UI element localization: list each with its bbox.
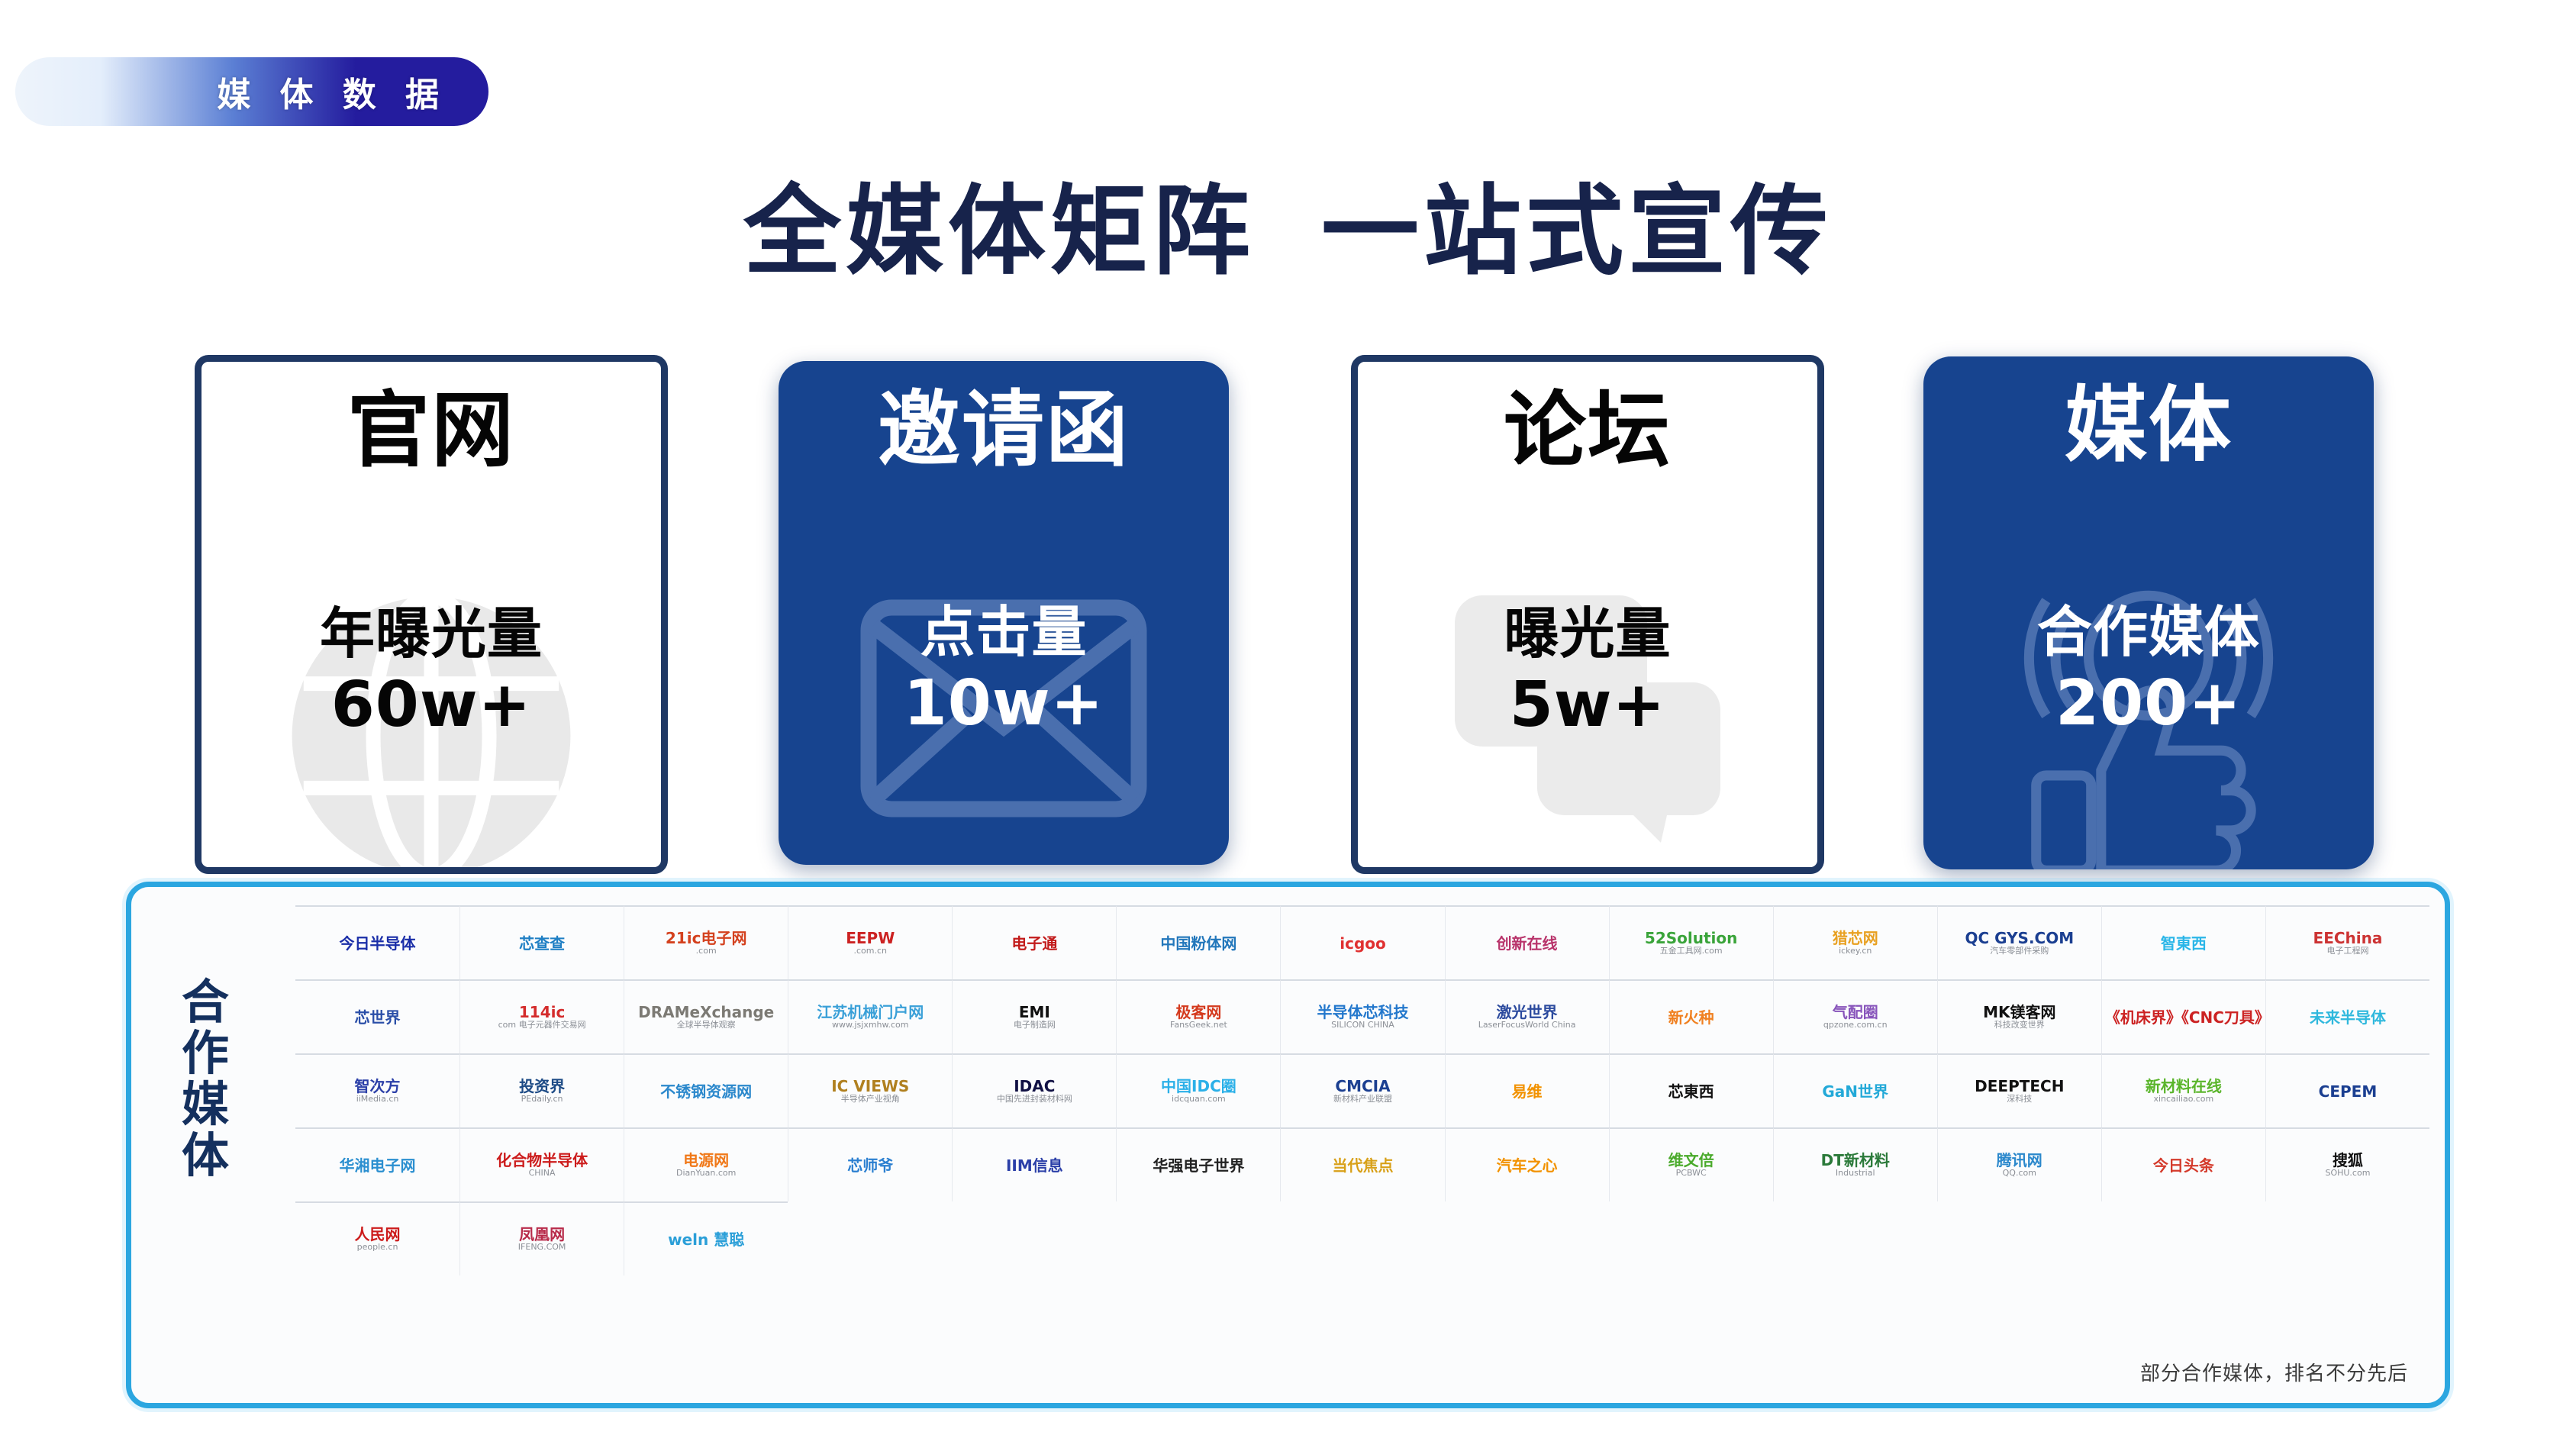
logo-cell[interactable]: IIM信息 <box>952 1127 1116 1201</box>
logo-cell[interactable]: 芯师爷 <box>788 1127 952 1201</box>
logo-name: DT新材料Industrial <box>1821 1152 1890 1178</box>
logo-subtitle: FansGeek.net <box>1170 1021 1227 1030</box>
logo-cell[interactable]: 不锈钢资源网 <box>624 1053 788 1127</box>
stat-card-media[interactable]: 媒体 合作媒体 200+ <box>1923 356 2374 869</box>
logo-cell[interactable]: 芯世界 <box>295 979 459 1053</box>
logo-subtitle: 深科技 <box>1975 1095 2064 1104</box>
logo-subtitle: .com <box>666 947 747 956</box>
logo-cell[interactable]: 当代焦点 <box>1280 1127 1444 1201</box>
logo-cell[interactable]: 半导体芯科技SILICON CHINA <box>1280 979 1444 1053</box>
logo-cell[interactable]: DRAMeXchange全球半导体观察 <box>624 979 788 1053</box>
logo-cell[interactable]: IDAC中国先进封装材料网 <box>952 1053 1116 1127</box>
logo-cell[interactable]: CMCIA新材料产业联盟 <box>1280 1053 1444 1127</box>
logo-name: EMI电子制造网 <box>1014 1004 1056 1030</box>
logo-cell[interactable]: 极客网FansGeek.net <box>1116 979 1280 1053</box>
logo-subtitle: ickey.cn <box>1833 947 1878 956</box>
logo-name: 21ic电子网.com <box>666 930 747 956</box>
logo-name: IDAC中国先进封装材料网 <box>997 1078 1072 1104</box>
logo-cell[interactable]: 气配圈qpzone.com.cn <box>1773 979 1937 1053</box>
card-metric-value: 5w+ <box>1504 668 1671 743</box>
logo-name: 当代焦点 <box>1332 1157 1393 1174</box>
logo-name: 中国粉体网 <box>1160 935 1236 952</box>
logo-cell-empty <box>1116 1201 1280 1275</box>
logo-cell[interactable]: DT新材料Industrial <box>1773 1127 1937 1201</box>
logo-name: 新材料在线xincailiao.com <box>2146 1078 2222 1104</box>
logo-cell-empty <box>2265 1201 2429 1275</box>
logo-subtitle: .com.cn <box>846 947 895 956</box>
logo-name: 智東西 <box>2161 935 2207 952</box>
logo-cell[interactable]: EEPW.com.cn <box>788 905 952 979</box>
logo-name: 维文倍PCBWC <box>1668 1152 1714 1178</box>
logo-cell[interactable]: 今日半导体 <box>295 905 459 979</box>
logo-cell[interactable]: 《机床界》《CNC刀具》 <box>2101 979 2265 1053</box>
logo-cell[interactable]: 芯東西 <box>1609 1053 1773 1127</box>
logo-name: 创新在线 <box>1497 935 1558 952</box>
logo-cell[interactable]: 未来半导体 <box>2265 979 2429 1053</box>
logo-name: 易维 <box>1512 1083 1543 1100</box>
logo-name: 52Solution五金工具网.com <box>1645 930 1737 956</box>
logo-subtitle: PEdaily.cn <box>519 1095 565 1104</box>
logo-subtitle: 电子制造网 <box>1014 1021 1056 1030</box>
logo-cell[interactable]: 中国粉体网 <box>1116 905 1280 979</box>
logo-subtitle: idcquan.com <box>1161 1095 1236 1104</box>
logo-name: 芯東西 <box>1668 1083 1714 1100</box>
logo-name: DEEPTECH深科技 <box>1975 1078 2064 1104</box>
logo-subtitle: IFENG.COM <box>518 1243 566 1252</box>
logo-name: 芯查查 <box>519 935 565 952</box>
logo-subtitle: qpzone.com.cn <box>1823 1021 1888 1030</box>
logo-subtitle: 半导体产业视角 <box>831 1095 909 1104</box>
logo-cell[interactable]: 易维 <box>1445 1053 1609 1127</box>
logo-name: icgoo <box>1340 935 1386 952</box>
logo-name: MK镁客网科技改变世界 <box>1983 1004 2055 1030</box>
logo-cell[interactable]: CEPEM <box>2265 1053 2429 1127</box>
partner-media-label: 合作媒体 <box>160 977 252 1182</box>
logo-cell[interactable]: EMI电子制造网 <box>952 979 1116 1053</box>
card-metric-value: 60w+ <box>320 668 543 743</box>
logo-cell[interactable]: MK镁客网科技改变世界 <box>1937 979 2101 1053</box>
logo-subtitle: SILICON CHINA <box>1317 1021 1408 1030</box>
card-heading: 官网 <box>347 388 515 474</box>
logo-cell-empty <box>2101 1201 2265 1275</box>
logo-cell[interactable]: 智東西 <box>2101 905 2265 979</box>
logo-cell[interactable]: DEEPTECH深科技 <box>1937 1053 2101 1127</box>
logo-subtitle: 新材料产业联盟 <box>1333 1095 1392 1104</box>
logo-name: 不锈钢资源网 <box>660 1083 752 1100</box>
logo-name: 化合物半导体CHINA <box>496 1152 588 1178</box>
logo-subtitle: people.cn <box>355 1243 401 1252</box>
logo-name: 114iccom 电子元器件交易网 <box>498 1004 586 1030</box>
logo-name: IC VIEWS半导体产业视角 <box>831 1078 909 1104</box>
logo-name: DRAMeXchange全球半导体观察 <box>638 1004 774 1030</box>
logo-cell-empty <box>1773 1201 1937 1275</box>
logo-cell[interactable]: 华湘电子网 <box>295 1127 459 1201</box>
logo-name: CEPEM <box>2319 1083 2378 1100</box>
logo-name: weln 慧聪 <box>668 1231 744 1248</box>
logo-name: GaN世界 <box>1822 1083 1888 1100</box>
logo-cell[interactable]: 投资界PEdaily.cn <box>459 1053 624 1127</box>
logo-name: 汽车之心 <box>1497 1157 1558 1174</box>
logo-cell[interactable]: 汽车之心 <box>1445 1127 1609 1201</box>
logo-cell[interactable]: 新火种 <box>1609 979 1773 1053</box>
logo-cell[interactable]: 华强电子世界 <box>1116 1127 1280 1201</box>
logo-name: 搜狐SOHU.com <box>2325 1152 2370 1178</box>
partner-logo-grid: 今日半导体芯查查21ic电子网.comEEPW.com.cn电子通中国粉体网ic… <box>295 905 2429 1275</box>
logo-cell[interactable]: 智次方iiMedia.cn <box>295 1053 459 1127</box>
logo-name: 气配圈qpzone.com.cn <box>1823 1004 1888 1030</box>
logo-cell[interactable]: 52Solution五金工具网.com <box>1609 905 1773 979</box>
logo-name: 极客网FansGeek.net <box>1170 1004 1227 1030</box>
logo-cell[interactable]: QC GYS.COM汽车零部件采购 <box>1937 905 2101 979</box>
title-left: 全媒体矩阵 <box>743 183 1255 281</box>
logo-cell[interactable]: 114iccom 电子元器件交易网 <box>459 979 624 1053</box>
panel-footnote: 部分合作媒体，排名不分先后 <box>2140 1358 2408 1386</box>
badge-label: 媒 体 数 据 <box>217 67 449 116</box>
logo-subtitle: DianYuan.com <box>676 1169 736 1178</box>
logo-cell[interactable]: 化合物半导体CHINA <box>459 1127 624 1201</box>
card-body: 曝光量 5w+ <box>1504 599 1671 743</box>
card-metric-value: 200+ <box>2037 666 2260 741</box>
logo-subtitle: 全球半导体观察 <box>638 1021 774 1030</box>
logo-name: 电子通 <box>1011 935 1057 952</box>
logo-name: QC GYS.COM汽车零部件采购 <box>1965 930 2074 956</box>
logo-cell[interactable]: IC VIEWS半导体产业视角 <box>788 1053 952 1127</box>
logo-cell[interactable]: 电子通 <box>952 905 1116 979</box>
logo-cell[interactable]: weln 慧聪 <box>624 1201 788 1275</box>
logo-name: 江苏机械门户网www.jsjxmhw.com <box>817 1004 924 1030</box>
logo-cell[interactable]: 维文倍PCBWC <box>1609 1127 1773 1201</box>
card-body: 年曝光量 60w+ <box>320 599 543 743</box>
title-right: 一站式宣传 <box>1321 183 1833 281</box>
logo-cell-empty <box>788 1201 952 1275</box>
card-heading: 媒体 <box>2065 382 2233 469</box>
logo-name: 激光世界LaserFocusWorld China <box>1478 1004 1576 1030</box>
logo-cell[interactable]: icgoo <box>1280 905 1444 979</box>
logo-name: 芯师爷 <box>847 1157 893 1174</box>
logo-cell[interactable]: 江苏机械门户网www.jsjxmhw.com <box>788 979 952 1053</box>
logo-cell[interactable]: 人民网people.cn <box>295 1201 459 1275</box>
logo-cell[interactable]: EEChina电子工程网 <box>2265 905 2429 979</box>
stat-card-forum[interactable]: 论坛 曝光量 5w+ <box>1351 355 1824 874</box>
logo-name: 芯世界 <box>355 1009 401 1026</box>
logo-name: 人民网people.cn <box>355 1226 401 1252</box>
card-metric-label: 合作媒体 <box>2037 598 2260 666</box>
logo-subtitle: 汽车零部件采购 <box>1965 947 2074 956</box>
card-metric-label: 点击量 <box>904 598 1104 666</box>
logo-subtitle: xincailiao.com <box>2146 1095 2222 1104</box>
logo-cell[interactable]: 创新在线 <box>1445 905 1609 979</box>
card-metric-label: 年曝光量 <box>320 599 543 668</box>
card-metric-value: 10w+ <box>904 666 1104 741</box>
logo-name: EEChina电子工程网 <box>2313 930 2383 956</box>
logo-name: 猎芯网ickey.cn <box>1833 930 1878 956</box>
logo-cell[interactable]: 中国IDC圈idcquan.com <box>1116 1053 1280 1127</box>
logo-name: 电源网DianYuan.com <box>676 1152 736 1178</box>
logo-cell[interactable]: 新材料在线xincailiao.com <box>2101 1053 2265 1127</box>
logo-name: 未来半导体 <box>2310 1009 2386 1026</box>
logo-name: 新火种 <box>1668 1009 1714 1026</box>
logo-name: 腾讯网QQ.com <box>1997 1152 2042 1178</box>
media-data-badge: 媒 体 数 据 <box>15 57 488 126</box>
logo-name: 凤凰网IFENG.COM <box>518 1226 566 1252</box>
logo-subtitle: www.jsjxmhw.com <box>817 1021 924 1030</box>
logo-cell-empty <box>1937 1201 2101 1275</box>
logo-name: 今日头条 <box>2153 1157 2214 1174</box>
partner-media-panel: 合作媒体 今日半导体芯查查21ic电子网.comEEPW.com.cn电子通中国… <box>126 882 2450 1408</box>
logo-name: 中国IDC圈idcquan.com <box>1161 1078 1236 1104</box>
card-metric-label: 曝光量 <box>1504 599 1671 668</box>
logo-cell-empty <box>1280 1201 1444 1275</box>
logo-cell[interactable]: 搜狐SOHU.com <box>2265 1127 2429 1201</box>
logo-subtitle: LaserFocusWorld China <box>1478 1021 1576 1030</box>
logo-name: 今日半导体 <box>340 935 416 952</box>
logo-cell[interactable]: 21ic电子网.com <box>624 905 788 979</box>
logo-subtitle: Industrial <box>1821 1169 1890 1178</box>
badge-pill: 媒 体 数 据 <box>15 57 488 126</box>
logo-cell[interactable]: GaN世界 <box>1773 1053 1937 1127</box>
page-title: 全媒体矩阵 一站式宣传 <box>0 183 2576 281</box>
logo-cell[interactable]: 今日头条 <box>2101 1127 2265 1201</box>
logo-cell[interactable]: 电源网DianYuan.com <box>624 1127 788 1201</box>
logo-subtitle: PCBWC <box>1668 1169 1714 1178</box>
logo-subtitle: 电子工程网 <box>2313 947 2383 956</box>
logo-cell[interactable]: 腾讯网QQ.com <box>1937 1127 2101 1201</box>
logo-subtitle: com 电子元器件交易网 <box>498 1021 586 1030</box>
card-body: 合作媒体 200+ <box>2037 598 2260 741</box>
stat-card-invitation[interactable]: 邀请函 点击量 10w+ <box>779 361 1229 865</box>
logo-name: 《机床界》《CNC刀具》 <box>2105 1009 2262 1026</box>
logo-subtitle: QQ.com <box>1997 1169 2042 1178</box>
logo-cell[interactable]: 凤凰网IFENG.COM <box>459 1201 624 1275</box>
card-heading: 邀请函 <box>878 387 1130 473</box>
logo-name: IIM信息 <box>1006 1157 1063 1174</box>
logo-cell[interactable]: 芯查查 <box>459 905 624 979</box>
logo-subtitle: SOHU.com <box>2325 1169 2370 1178</box>
logo-name: 智次方iiMedia.cn <box>355 1078 401 1104</box>
logo-cell[interactable]: 激光世界LaserFocusWorld China <box>1445 979 1609 1053</box>
logo-subtitle: iiMedia.cn <box>355 1095 401 1104</box>
stat-card-official-site[interactable]: 官网 年曝光量 60w+ <box>195 355 668 874</box>
logo-subtitle: 中国先进封装材料网 <box>997 1095 1072 1104</box>
logo-cell[interactable]: 猎芯网ickey.cn <box>1773 905 1937 979</box>
logo-name: 投资界PEdaily.cn <box>519 1078 565 1104</box>
card-body: 点击量 10w+ <box>904 598 1104 741</box>
logo-subtitle: 科技改变世界 <box>1983 1021 2055 1030</box>
card-heading: 论坛 <box>1504 388 1672 474</box>
stat-card-row: 官网 年曝光量 60w+ 邀请函 点击量 10w+ 论坛 曝光量 5w+ <box>0 355 2576 889</box>
logo-name: EEPW.com.cn <box>846 930 895 956</box>
logo-cell-empty <box>1445 1201 1609 1275</box>
logo-name: 华湘电子网 <box>340 1157 416 1174</box>
logo-name: 半导体芯科技SILICON CHINA <box>1317 1004 1408 1030</box>
logo-name: CMCIA新材料产业联盟 <box>1333 1078 1392 1104</box>
logo-subtitle: 五金工具网.com <box>1645 947 1737 956</box>
logo-subtitle: CHINA <box>496 1169 588 1178</box>
logo-name: 华强电子世界 <box>1153 1157 1244 1174</box>
logo-cell-empty <box>952 1201 1116 1275</box>
logo-cell-empty <box>1609 1201 1773 1275</box>
